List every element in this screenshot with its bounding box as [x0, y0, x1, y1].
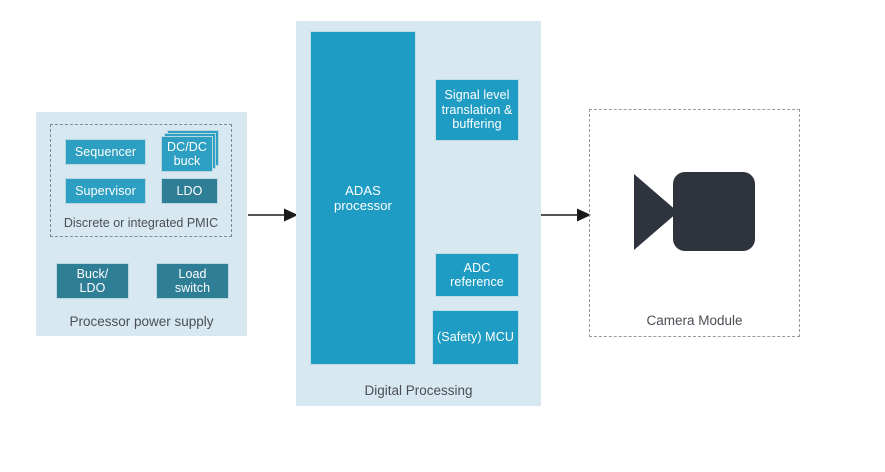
block-safety-mcu-label: (Safety) MCU	[437, 330, 514, 345]
video-camera-icon	[634, 172, 755, 251]
block-adas-processor[interactable]: ADAS processor	[310, 31, 416, 365]
pmic-group-caption: Discrete or integrated PMIC	[50, 216, 232, 231]
block-supervisor-label: Supervisor	[75, 184, 136, 199]
block-signal-level-translation-label: Signal level translation & buffering	[442, 88, 513, 132]
block-supervisor[interactable]: Supervisor	[65, 178, 146, 204]
block-dcdc-buck[interactable]: DC/DC buck	[161, 136, 213, 172]
block-load-switch-label: Load switch	[175, 267, 210, 296]
diagram-canvas: Sequencer DC/DC buck Supervisor LDO Disc…	[0, 0, 885, 472]
block-adas-processor-label: ADAS processor	[334, 183, 392, 214]
processor-to-camera-arrow	[541, 206, 593, 224]
block-buck-ldo[interactable]: Buck/ LDO	[56, 263, 129, 299]
block-adc-reference-label: ADC reference	[450, 261, 504, 290]
block-safety-mcu[interactable]: (Safety) MCU	[432, 310, 519, 365]
block-buck-ldo-label: Buck/ LDO	[77, 267, 109, 296]
block-ldo-label: LDO	[176, 184, 202, 199]
camera-module-caption: Camera Module	[589, 313, 800, 329]
power-to-processor-arrow	[248, 206, 300, 224]
block-sequencer[interactable]: Sequencer	[65, 139, 146, 165]
block-dcdc-buck-label: DC/DC buck	[167, 140, 207, 169]
block-sequencer-label: Sequencer	[75, 145, 136, 160]
processor-power-supply-caption: Processor power supply	[36, 314, 247, 330]
digital-processing-caption: Digital Processing	[296, 383, 541, 399]
block-signal-level-translation[interactable]: Signal level translation & buffering	[435, 79, 519, 141]
block-ldo[interactable]: LDO	[161, 178, 218, 204]
block-load-switch[interactable]: Load switch	[156, 263, 229, 299]
block-adc-reference[interactable]: ADC reference	[435, 253, 519, 297]
